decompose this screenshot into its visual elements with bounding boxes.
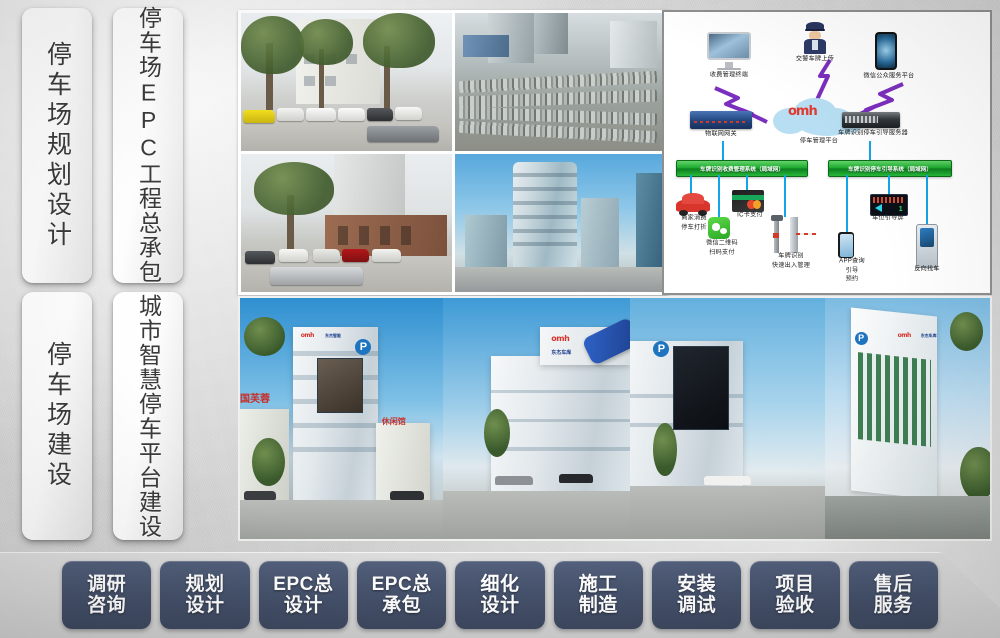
photo-collage-top bbox=[238, 10, 668, 295]
led-billboard bbox=[673, 346, 730, 430]
process-step-line2: 验收 bbox=[775, 595, 814, 616]
process-step-line2: 服务 bbox=[874, 595, 913, 616]
pedestrian-icon bbox=[856, 234, 867, 258]
toll-subsystem-label: 车牌识别收费管理系统（局域网） bbox=[700, 165, 784, 173]
process-step-line2: 承包 bbox=[382, 595, 421, 616]
traffic-police-icon bbox=[802, 22, 828, 54]
photo-lot-brick-building bbox=[241, 154, 452, 292]
diagram-item-label: 车位引导屏 bbox=[857, 215, 918, 224]
service-card-label: 城市智慧停车平台建设 bbox=[137, 294, 160, 539]
rendering-tower-garage: P omh 东杰智能 国芙蓉 休闲馆 bbox=[240, 298, 443, 539]
process-step-detailed-design[interactable]: 细化 设计 bbox=[455, 561, 544, 629]
diagram-node-label: 停车管理平台 bbox=[775, 138, 862, 147]
omh-brand-cn: 东杰智能 bbox=[325, 333, 341, 339]
rendering-garage-facade: omh 东杰车库 bbox=[443, 298, 631, 539]
diagram-wire bbox=[888, 175, 890, 195]
process-step-line2: 咨询 bbox=[87, 595, 126, 616]
diagram-node-label: 物联网网关 bbox=[680, 131, 763, 140]
p-badge-label: P bbox=[658, 343, 665, 355]
omh-cloud-logo: omh bbox=[788, 104, 817, 119]
process-step-planning[interactable]: 规划 设计 bbox=[160, 561, 249, 629]
diagram-item-label: APP查询 引导 预约 bbox=[819, 258, 885, 285]
toll-terminal-icon bbox=[707, 32, 751, 70]
rendering-garage-billboard: P bbox=[630, 298, 825, 539]
diagram-item-label: 微信二维码 扫码支付 bbox=[689, 240, 755, 258]
diagram-wire bbox=[784, 175, 786, 217]
reverse-car-finding-kiosk-icon bbox=[916, 224, 938, 268]
omh-brand-logo: omh bbox=[551, 334, 569, 343]
diagram-wire bbox=[846, 175, 848, 233]
process-step-line1: 规划 bbox=[185, 574, 224, 595]
diagram-node-label: 车牌识别停车引导服务器 bbox=[825, 130, 922, 139]
service-card-label: 停车场EPC工程总承包 bbox=[137, 6, 160, 285]
sign-text-right: 休闲馆 bbox=[382, 416, 406, 427]
service-card-parking-epc[interactable]: 停车场EPC工程总承包 bbox=[113, 8, 183, 283]
parking-guidance-screen-icon: 1 bbox=[870, 194, 908, 216]
toll-subsystem-bar: 车牌识别收费管理系统（局域网） bbox=[676, 160, 808, 177]
poster-canvas: 停车场规划设计 停车场EPC工程总承包 停车场建设 城市智慧停车平台建设 bbox=[0, 0, 1000, 638]
process-step-line2: 制造 bbox=[579, 595, 618, 616]
guide-subsystem-label: 车牌识别停车引导系统（局域网） bbox=[848, 165, 932, 173]
process-step-line2: 调试 bbox=[677, 595, 716, 616]
diagram-wire bbox=[926, 175, 928, 225]
app-query-phone-icon bbox=[838, 232, 854, 258]
merchant-discount-car-icon bbox=[676, 192, 710, 216]
guidance-server-icon bbox=[842, 112, 900, 128]
diagram-node-label: 交警车牌上传 bbox=[771, 56, 858, 65]
iot-gateway-icon bbox=[690, 111, 752, 129]
process-step-line1: 售后 bbox=[874, 574, 913, 595]
process-step-after-sales[interactable]: 售后 服务 bbox=[849, 561, 938, 629]
project-renderings-strip: P omh 东杰智能 国芙蓉 休闲馆 omh 东杰车库 bbox=[238, 296, 992, 541]
process-step-epc-design[interactable]: EPC总 设计 bbox=[259, 561, 348, 629]
omh-brand-cn: 东杰车库 bbox=[921, 333, 937, 339]
process-step-survey[interactable]: 调研 咨询 bbox=[62, 561, 151, 629]
process-step-line2: 设计 bbox=[480, 595, 519, 616]
process-step-acceptance[interactable]: 项目 验收 bbox=[750, 561, 839, 629]
process-step-manufacturing[interactable]: 施工 制造 bbox=[554, 561, 643, 629]
process-step-line2: 设计 bbox=[284, 595, 323, 616]
omh-brand-logo: omh bbox=[898, 332, 911, 339]
diagram-item-label: 车牌识别 快速出入管理 bbox=[757, 253, 825, 271]
ic-card-pay-icon bbox=[732, 190, 764, 212]
process-step-line2: 设计 bbox=[185, 595, 224, 616]
p-badge-label: P bbox=[858, 333, 864, 343]
diagram-item-label: 反向找车 bbox=[900, 266, 954, 275]
rendering-aerial-tower-garage: P omh 东杰车库 bbox=[825, 298, 990, 539]
service-card-smart-platform[interactable]: 城市智慧停车平台建设 bbox=[113, 292, 183, 540]
service-card-parking-construction[interactable]: 停车场建设 bbox=[22, 292, 92, 540]
parking-system-architecture-diagram: 收费管理终端 交警车牌上传 微信公众服务平台 omh 停车管理平台 bbox=[662, 10, 992, 295]
omh-brand-cn: 东杰车库 bbox=[551, 349, 571, 356]
process-step-installation[interactable]: 安装 调试 bbox=[652, 561, 741, 629]
wechat-service-phone-icon bbox=[875, 32, 897, 70]
photo-office-tower bbox=[455, 154, 666, 292]
diagram-node-label: 微信公众服务平台 bbox=[843, 73, 935, 82]
led-digit: 1 bbox=[899, 206, 903, 213]
process-steps: 调研 咨询 规划 设计 EPC总 设计 EPC总 承包 细化 设计 施工 制造 … bbox=[0, 552, 1000, 638]
process-step-line1: 调研 bbox=[87, 574, 126, 595]
p-badge-label: P bbox=[360, 341, 367, 353]
process-step-line1: 细化 bbox=[480, 574, 519, 595]
process-step-line1: 安装 bbox=[677, 574, 716, 595]
omh-brand-logo: omh bbox=[301, 332, 314, 339]
process-step-line1: EPC总 bbox=[273, 574, 333, 595]
diagram-wire bbox=[718, 175, 720, 217]
process-step-line1: 施工 bbox=[579, 574, 618, 595]
service-card-label: 停车场建设 bbox=[45, 341, 70, 491]
billboard bbox=[317, 358, 364, 413]
photo-aerial-parking-lot bbox=[455, 13, 666, 151]
parking-p-badge: P bbox=[855, 332, 868, 345]
diagram-node-label: 收费管理终端 bbox=[685, 72, 772, 81]
process-step-line1: EPC总 bbox=[372, 574, 432, 595]
lpr-barrier-gate-icon bbox=[770, 215, 816, 253]
sign-text-left: 国芙蓉 bbox=[240, 390, 270, 405]
photo-street-parking-lot bbox=[241, 13, 452, 151]
service-card-parking-planning[interactable]: 停车场规划设计 bbox=[22, 8, 92, 283]
service-card-label: 停车场规划设计 bbox=[45, 41, 70, 251]
process-step-epc-contracting[interactable]: EPC总 承包 bbox=[357, 561, 446, 629]
process-step-line1: 项目 bbox=[775, 574, 814, 595]
